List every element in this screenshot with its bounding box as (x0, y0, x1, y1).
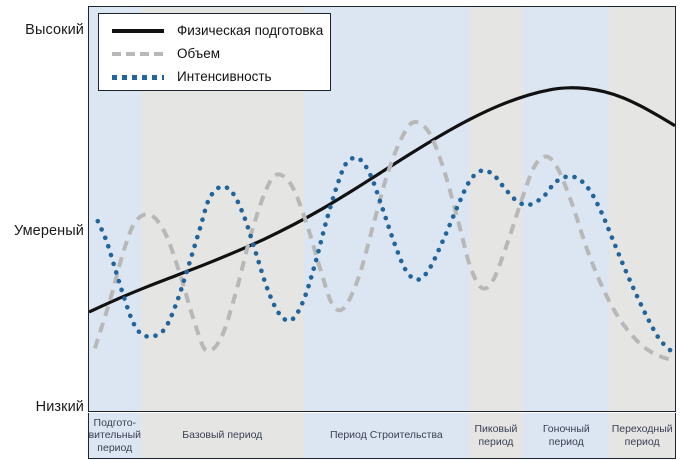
legend-swatch-dashed-line-icon (110, 47, 166, 61)
x-band-label-5: Гоночный период (523, 413, 609, 458)
legend-item-fitness: Физическая подготовка (99, 19, 330, 42)
legend-swatch-dotted-line-icon (110, 70, 166, 84)
x-band-label-text: Период Строительства (330, 429, 443, 442)
legend-swatch-solid-line-icon (110, 24, 166, 38)
x-band-label-text: Подгото-вительныйпериод (89, 417, 141, 455)
legend-label-volume: Объем (177, 47, 220, 61)
y-axis-label-moderate: Умереный (14, 223, 84, 239)
x-band-label-1: Подгото-вительныйпериод (89, 413, 141, 458)
series-line-volume (95, 122, 675, 360)
y-axis-label-low: Низкий (36, 399, 84, 415)
x-band-label-3: Период Строительства (304, 413, 469, 458)
x-band-label-text: Базовый период (182, 429, 262, 442)
chart-legend: Физическая подготовка Объем Интенсивност… (98, 13, 331, 91)
legend-item-intensity: Интенсивность (99, 65, 330, 88)
x-band-label-4: Пиковыйпериод (469, 413, 523, 458)
training-periodization-chart: Высокий Умереный Низкий Физическая подго… (0, 0, 681, 460)
legend-item-volume: Объем (99, 42, 330, 65)
x-band-label-2: Базовый период (141, 413, 304, 458)
y-axis-label-high: Высокий (25, 22, 84, 38)
x-band-label-text: Гоночный период (525, 423, 607, 448)
legend-label-fitness: Физическая подготовка (177, 24, 323, 38)
x-band-label-text: Переходныйпериод (612, 423, 673, 448)
x-band-label-text: Пиковыйпериод (474, 423, 517, 448)
legend-label-intensity: Интенсивность (177, 70, 272, 84)
x-band-label-6: Переходныйпериод (609, 413, 675, 458)
x-axis-period-labels: Подгото-вительныйпериодБазовый периодПер… (88, 413, 676, 459)
